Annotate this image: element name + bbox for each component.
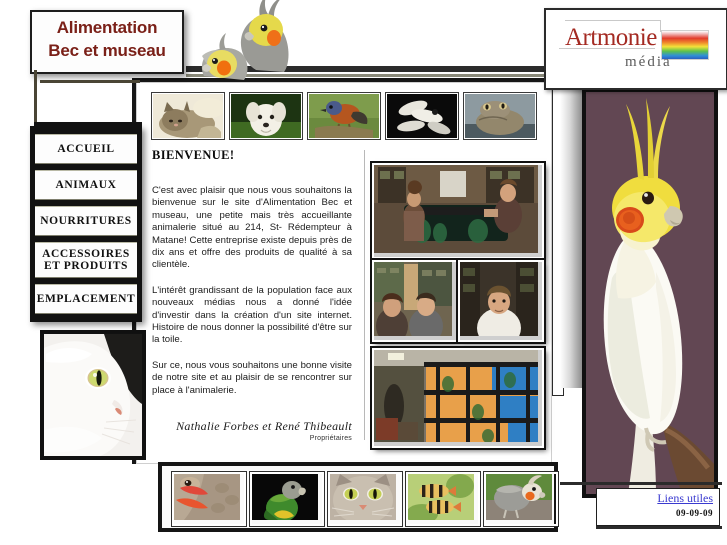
site-logo-text: Alimentation Bec et museau	[32, 16, 182, 62]
store-photo-owners-aquarium	[372, 163, 544, 259]
sidebar-item-label-line1: ACCESSOIRES	[42, 248, 130, 260]
sidebar-item-label: ACCUEIL	[57, 143, 114, 155]
header-rule-under-logo	[40, 80, 140, 83]
content-divider	[364, 150, 365, 440]
welcome-text-column: BIENVENUE! C'est avec plaisir que nous v…	[152, 148, 357, 448]
artmonie-logo[interactable]: Artmonie média	[553, 16, 715, 78]
page-root: Alimentation Bec et museau	[0, 0, 727, 545]
cockatiel-mascot-svg	[198, 0, 293, 88]
sidebar-nav: ACCUEIL ANIMAUX NOURRITURES ACCESSOIRES …	[30, 126, 142, 322]
footer-rule-bottom	[596, 526, 722, 529]
cockatiel-hero-art	[586, 92, 714, 494]
thumb-cat-face[interactable]	[328, 472, 402, 526]
thumb-cockatiel-closeup[interactable]	[172, 472, 246, 526]
header-rule-vertical	[34, 70, 37, 125]
site-logo[interactable]: Alimentation Bec et museau	[30, 10, 184, 74]
cockatiel-mascot-icon	[198, 0, 293, 88]
sidebar-item-label-line2: ET PRODUITS	[44, 260, 128, 272]
sidebar-item-nourritures[interactable]: NOURRITURES	[35, 206, 137, 236]
logo-line-2: Bec et museau	[32, 39, 182, 62]
signature-role: Propriétaires	[152, 435, 352, 442]
sidebar-item-label: ANIMAUX	[55, 179, 116, 191]
thumb-grey-cockatiel[interactable]	[484, 472, 558, 526]
sidebar-item-emplacement[interactable]: EMPLACEMENT	[35, 284, 137, 314]
welcome-paragraph-1: C'est avec plaisir que nous vous souhait…	[152, 185, 352, 272]
footer-rule-top	[560, 482, 722, 485]
signature-block: Nathalie Forbes et René Thibeault Propri…	[152, 419, 360, 442]
page-title: BIENVENUE!	[152, 148, 357, 163]
white-cat-photo	[44, 334, 142, 456]
liens-utiles-link[interactable]: Liens utiles	[657, 491, 713, 506]
sidebar-item-label: EMPLACEMENT	[37, 293, 136, 305]
welcome-paragraph-2: L'intérêt grandissant de la population f…	[152, 285, 352, 347]
header-rule-thick	[34, 122, 142, 127]
thumb-kitten[interactable]	[152, 93, 224, 139]
thumb-parrot[interactable]	[250, 472, 324, 526]
sidebar-item-accueil[interactable]: ACCUEIL	[35, 134, 137, 164]
footer-box: Liens utiles 09-09-09	[596, 488, 720, 526]
artmonie-brand-subtitle: média	[625, 54, 672, 71]
store-photo-staff-right	[458, 260, 544, 342]
artmonie-rule-bottom	[559, 48, 655, 49]
thumb-dog[interactable]	[230, 93, 302, 139]
thumb-toad[interactable]	[464, 93, 536, 139]
thumb-bird[interactable]	[308, 93, 380, 139]
sidebar-item-animaux[interactable]: ANIMAUX	[35, 170, 137, 200]
gallery-top-strip	[152, 93, 536, 137]
sidebar-item-accessoires[interactable]: ACCESSOIRES ET PRODUITS	[35, 242, 137, 278]
thumb-tiger-barbs[interactable]	[406, 472, 480, 526]
artmonie-rule-top	[565, 20, 661, 21]
thumb-fish[interactable]	[386, 93, 458, 139]
hero-side-gradient	[560, 88, 582, 388]
cockatiel-hero-photo	[586, 92, 714, 494]
store-photo-aquarium-wall	[372, 348, 544, 448]
logo-line-1: Alimentation	[57, 18, 158, 37]
white-cat-photo-art	[44, 334, 142, 456]
signature-name: Nathalie Forbes et René Thibeault	[152, 419, 352, 434]
sidebar-item-label: NOURRITURES	[40, 215, 132, 227]
store-photo-staff-left	[372, 260, 458, 342]
date-stamp: 09-09-09	[676, 508, 713, 518]
welcome-paragraph-3: Sur ce, nous vous souhaitons une bonne v…	[152, 360, 352, 397]
